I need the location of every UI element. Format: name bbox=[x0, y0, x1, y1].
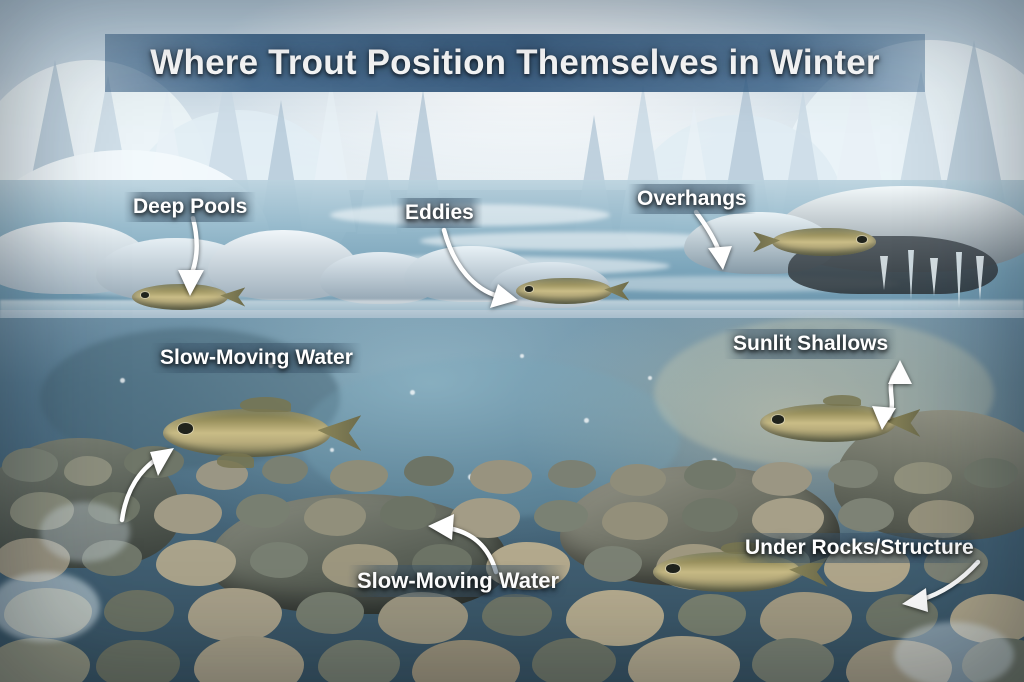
label-eddies: Eddies bbox=[396, 198, 483, 228]
trout-deep-pool bbox=[132, 284, 228, 310]
label-sunlit-shallows: Sunlit Shallows bbox=[724, 329, 897, 359]
trout-eddy bbox=[516, 278, 612, 304]
label-overhangs: Overhangs bbox=[628, 184, 756, 214]
infographic-scene: Where Trout Position Themselves in Winte… bbox=[0, 0, 1024, 682]
label-slow-moving-water-top: Slow-Moving Water bbox=[151, 343, 362, 373]
trout-sunlit-shallow bbox=[760, 404, 896, 442]
label-under-rocks-structure: Under Rocks/Structure bbox=[736, 533, 983, 563]
page-title: Where Trout Position Themselves in Winte… bbox=[150, 43, 879, 83]
label-deep-pools: Deep Pools bbox=[124, 192, 256, 222]
trout-overhang bbox=[772, 228, 876, 256]
title-banner: Where Trout Position Themselves in Winte… bbox=[105, 34, 925, 92]
trout-slow-water bbox=[163, 409, 331, 457]
label-slow-moving-water-bottom: Slow-Moving Water bbox=[348, 565, 568, 597]
